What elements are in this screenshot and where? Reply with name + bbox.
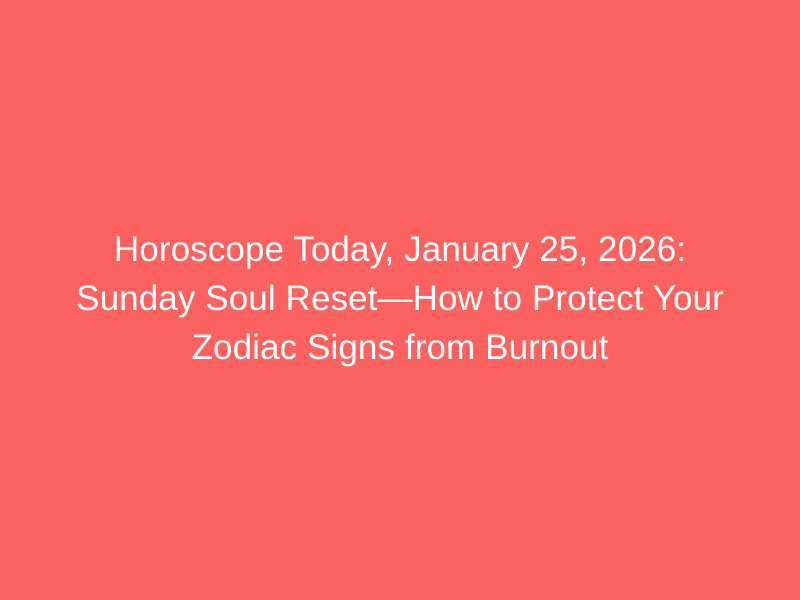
page-title: Horoscope Today, January 25, 2026: Sunda… xyxy=(60,225,740,372)
headline-card: Horoscope Today, January 25, 2026: Sunda… xyxy=(0,0,800,600)
headline-container: Horoscope Today, January 25, 2026: Sunda… xyxy=(60,225,740,372)
